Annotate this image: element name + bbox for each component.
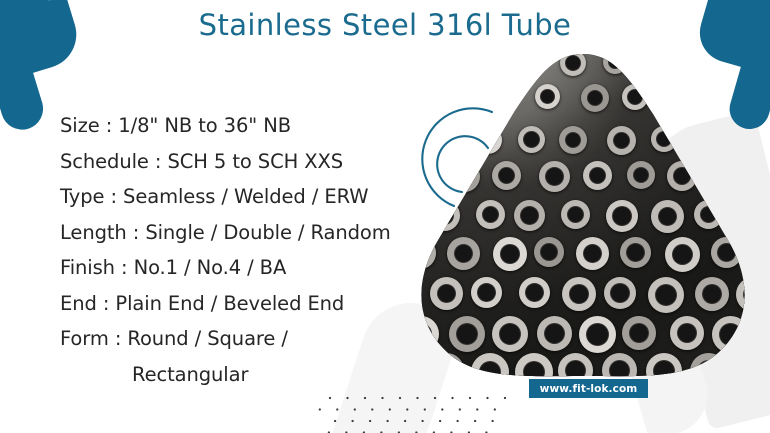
specification-list: Size : 1/8" NB to 36" NB Schedule : SCH … xyxy=(60,108,410,392)
tube-ring xyxy=(514,200,545,231)
tube-ring xyxy=(449,316,485,352)
tube-ring xyxy=(413,316,439,352)
tube-ring xyxy=(429,52,457,78)
tube-ring xyxy=(695,52,719,74)
tube-ring xyxy=(670,316,704,350)
product-banner: Stainless Steel 316l Tube Size : 1/8" NB… xyxy=(0,0,770,433)
spec-item-form: Form : Round / Square / xyxy=(60,321,410,357)
tube-ring xyxy=(413,237,436,269)
tube-ring xyxy=(666,84,695,113)
tube-ring xyxy=(413,84,429,113)
tube-ring xyxy=(737,353,753,377)
grid-dot xyxy=(406,408,408,410)
grid-dot xyxy=(381,397,383,399)
grid-dot xyxy=(354,408,356,410)
tube-ring xyxy=(651,126,677,152)
tube-ring xyxy=(737,126,753,155)
grid-dot xyxy=(334,420,336,422)
grid-dot xyxy=(459,408,461,410)
tube-stack-image xyxy=(413,52,753,377)
dot-grid-decoration xyxy=(318,392,528,433)
tube-ring xyxy=(690,353,727,377)
tube-ring xyxy=(537,316,572,351)
tube-ring xyxy=(444,84,473,113)
tube-ring xyxy=(603,52,627,74)
grid-dot xyxy=(451,397,453,399)
spec-item-type: Type : Seamless / Welded / ERW xyxy=(60,179,410,215)
tube-ring xyxy=(430,277,463,310)
tube-ring xyxy=(734,200,753,232)
tube-ring xyxy=(474,126,502,154)
tube-ring xyxy=(622,316,656,350)
website-url-badge[interactable]: www.fit-lok.com xyxy=(529,379,648,398)
grid-dot xyxy=(404,420,406,422)
tube-ring xyxy=(560,52,586,76)
tube-ring xyxy=(581,84,609,112)
tube-ring xyxy=(518,52,544,76)
tube-ring xyxy=(429,353,464,377)
tube-ring xyxy=(562,277,596,311)
grid-dot xyxy=(486,397,488,399)
tube-ring xyxy=(473,52,501,78)
tube-ring xyxy=(651,200,684,233)
tube-ring xyxy=(413,277,417,312)
tube-ring xyxy=(515,353,553,377)
grid-dot xyxy=(494,408,496,410)
tube-ring xyxy=(576,237,609,270)
tube-ring xyxy=(449,161,480,192)
tube-ring xyxy=(607,126,636,155)
grid-dot xyxy=(371,408,373,410)
grid-dot xyxy=(329,397,331,399)
grid-dot xyxy=(369,420,371,422)
tube-ring xyxy=(646,353,682,377)
grid-dot xyxy=(389,408,391,410)
spec-item-end: End : Plain End / Beveled End xyxy=(60,286,410,322)
tube-ring xyxy=(559,126,587,154)
tube-ring xyxy=(579,316,616,353)
product-photo-mask xyxy=(413,52,753,377)
grid-dot xyxy=(434,397,436,399)
tube-ring xyxy=(736,277,753,312)
tube-ring xyxy=(620,237,651,268)
page-title: Stainless Steel 316l Tube xyxy=(0,8,770,42)
grid-dot xyxy=(469,397,471,399)
tube-ring xyxy=(602,353,637,377)
tube-ring xyxy=(518,126,545,153)
grid-dot xyxy=(424,408,426,410)
tube-ring xyxy=(447,237,480,270)
tube-ring xyxy=(539,161,570,192)
grid-dot xyxy=(421,420,423,422)
tube-ring xyxy=(712,84,737,109)
grid-dot xyxy=(441,408,443,410)
grid-dot xyxy=(491,420,493,422)
tube-ring xyxy=(650,52,677,77)
spec-item-form-continued: Rectangular xyxy=(60,357,410,393)
tube-ring xyxy=(519,277,550,308)
tube-ring xyxy=(492,161,521,190)
grid-dot xyxy=(351,420,353,422)
grid-dot xyxy=(439,420,441,422)
spec-item-length: Length : Single / Double / Random xyxy=(60,215,410,251)
tube-ring xyxy=(690,126,719,155)
grid-dot xyxy=(364,397,366,399)
grid-dot xyxy=(476,408,478,410)
tube-ring xyxy=(488,84,513,109)
tube-ring xyxy=(413,161,434,192)
grid-dot xyxy=(386,420,388,422)
grid-dot xyxy=(399,397,401,399)
grid-dot xyxy=(416,397,418,399)
tube-ring xyxy=(665,237,700,272)
tube-ring xyxy=(558,353,593,377)
tube-ring xyxy=(535,84,560,109)
tube-ring xyxy=(712,316,749,353)
grid-dot xyxy=(474,420,476,422)
tube-ring xyxy=(561,200,590,229)
product-photo xyxy=(413,52,753,377)
tube-ring xyxy=(604,277,636,309)
grid-dot xyxy=(336,408,338,410)
grid-dot xyxy=(504,397,506,399)
tube-ring xyxy=(716,161,744,189)
tube-ring xyxy=(695,277,729,311)
tube-ring xyxy=(413,353,414,377)
spec-item-size: Size : 1/8" NB to 36" NB xyxy=(60,108,410,144)
spec-item-finish: Finish : No.1 / No.4 / BA xyxy=(60,250,410,286)
tube-ring xyxy=(429,126,455,152)
tube-ring xyxy=(413,200,416,233)
tube-ring xyxy=(471,277,502,308)
tube-ring xyxy=(583,161,612,190)
tube-ring xyxy=(492,316,528,352)
tube-ring xyxy=(648,277,684,313)
tube-ring xyxy=(606,200,638,232)
grid-dot xyxy=(319,408,321,410)
tube-ring xyxy=(476,200,505,229)
tube-ring xyxy=(711,237,742,268)
tube-ring xyxy=(622,84,648,110)
tube-ring xyxy=(471,353,509,377)
tube-ring xyxy=(429,200,460,231)
spec-item-schedule: Schedule : SCH 5 to SCH XXS xyxy=(60,144,410,180)
tube-ring xyxy=(493,237,527,271)
tube-ring xyxy=(667,161,697,191)
tube-ring xyxy=(627,161,655,189)
grid-dot xyxy=(456,420,458,422)
tube-ring xyxy=(739,52,753,78)
tube-ring xyxy=(534,237,564,267)
tube-ring xyxy=(694,200,723,229)
grid-dot xyxy=(346,397,348,399)
